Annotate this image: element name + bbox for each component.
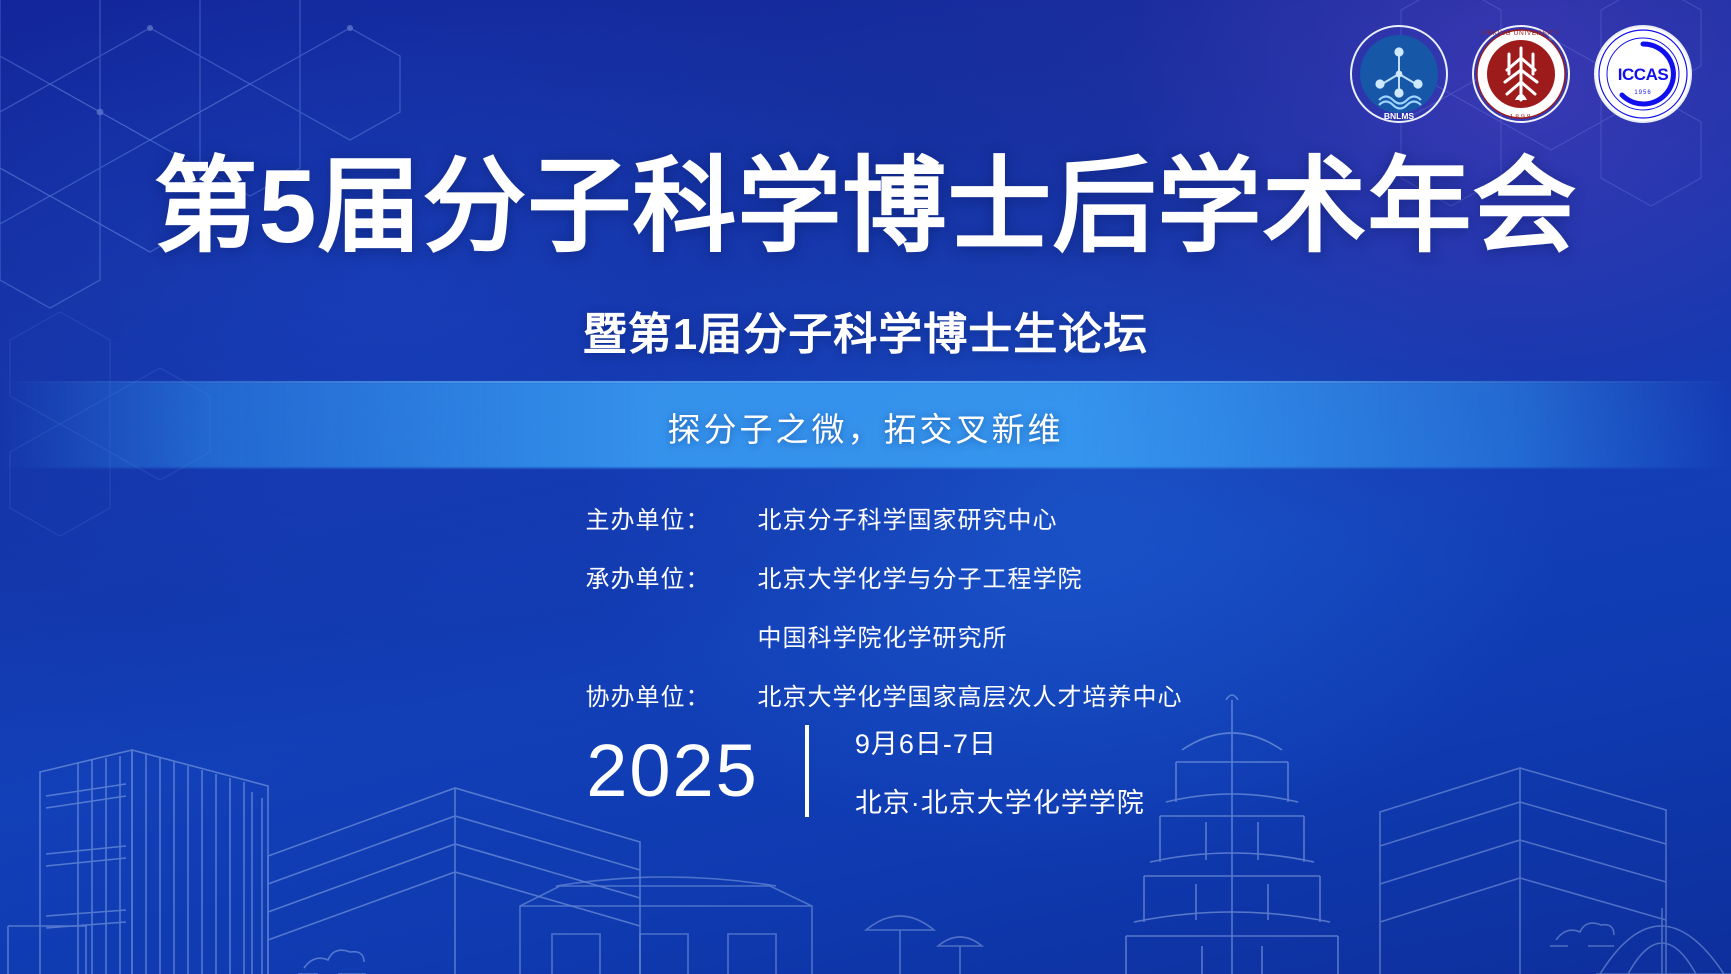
conference-subtitle: 暨第1届分子科学博士生论坛 [0,298,1731,362]
event-year: 2025 [586,734,805,808]
event-date: 9月6日-7日 [855,722,1145,761]
conference-tagline: 探分子之微，拓交叉新维 [0,403,1731,451]
organizer-row: 协办单位： 北京大学化学国家高层次人才培养中心 [586,677,1146,712]
event-datetime-block: 2025 9月6日-7日 北京·北京大学化学学院 [0,722,1731,820]
organizer-value: 中国科学院化学研究所 [758,618,1146,653]
organizer-row: 承办单位： 北京大学化学与分子工程学院 [586,559,1146,594]
organizer-label: 主办单位： [586,500,758,535]
organizer-value: 北京大学化学国家高层次人才培养中心 [758,677,1183,712]
conference-poster: BNLMS PEKING UNIVERSITY 1898 [0,0,1731,974]
organizer-row: 主办单位： 北京分子科学国家研究中心 [586,500,1146,535]
poster-content: 第5届分子科学博士后学术年会 暨第1届分子科学博士生论坛 探分子之微，拓交叉新维… [0,0,1731,974]
event-details: 9月6日-7日 北京·北京大学化学学院 [809,722,1145,820]
event-venue: 北京·北京大学化学学院 [855,781,1145,820]
organizer-list: 主办单位： 北京分子科学国家研究中心 承办单位： 北京大学化学与分子工程学院 承… [0,500,1731,736]
organizer-value: 北京大学化学与分子工程学院 [758,559,1146,594]
organizer-label: 协办单位： [586,677,758,712]
organizer-value: 北京分子科学国家研究中心 [758,500,1146,535]
conference-title: 第5届分子科学博士后学术年会 [0,152,1731,262]
organizer-row: 承办单位： 中国科学院化学研究所 [586,618,1146,653]
organizer-label: 承办单位： [586,559,758,594]
